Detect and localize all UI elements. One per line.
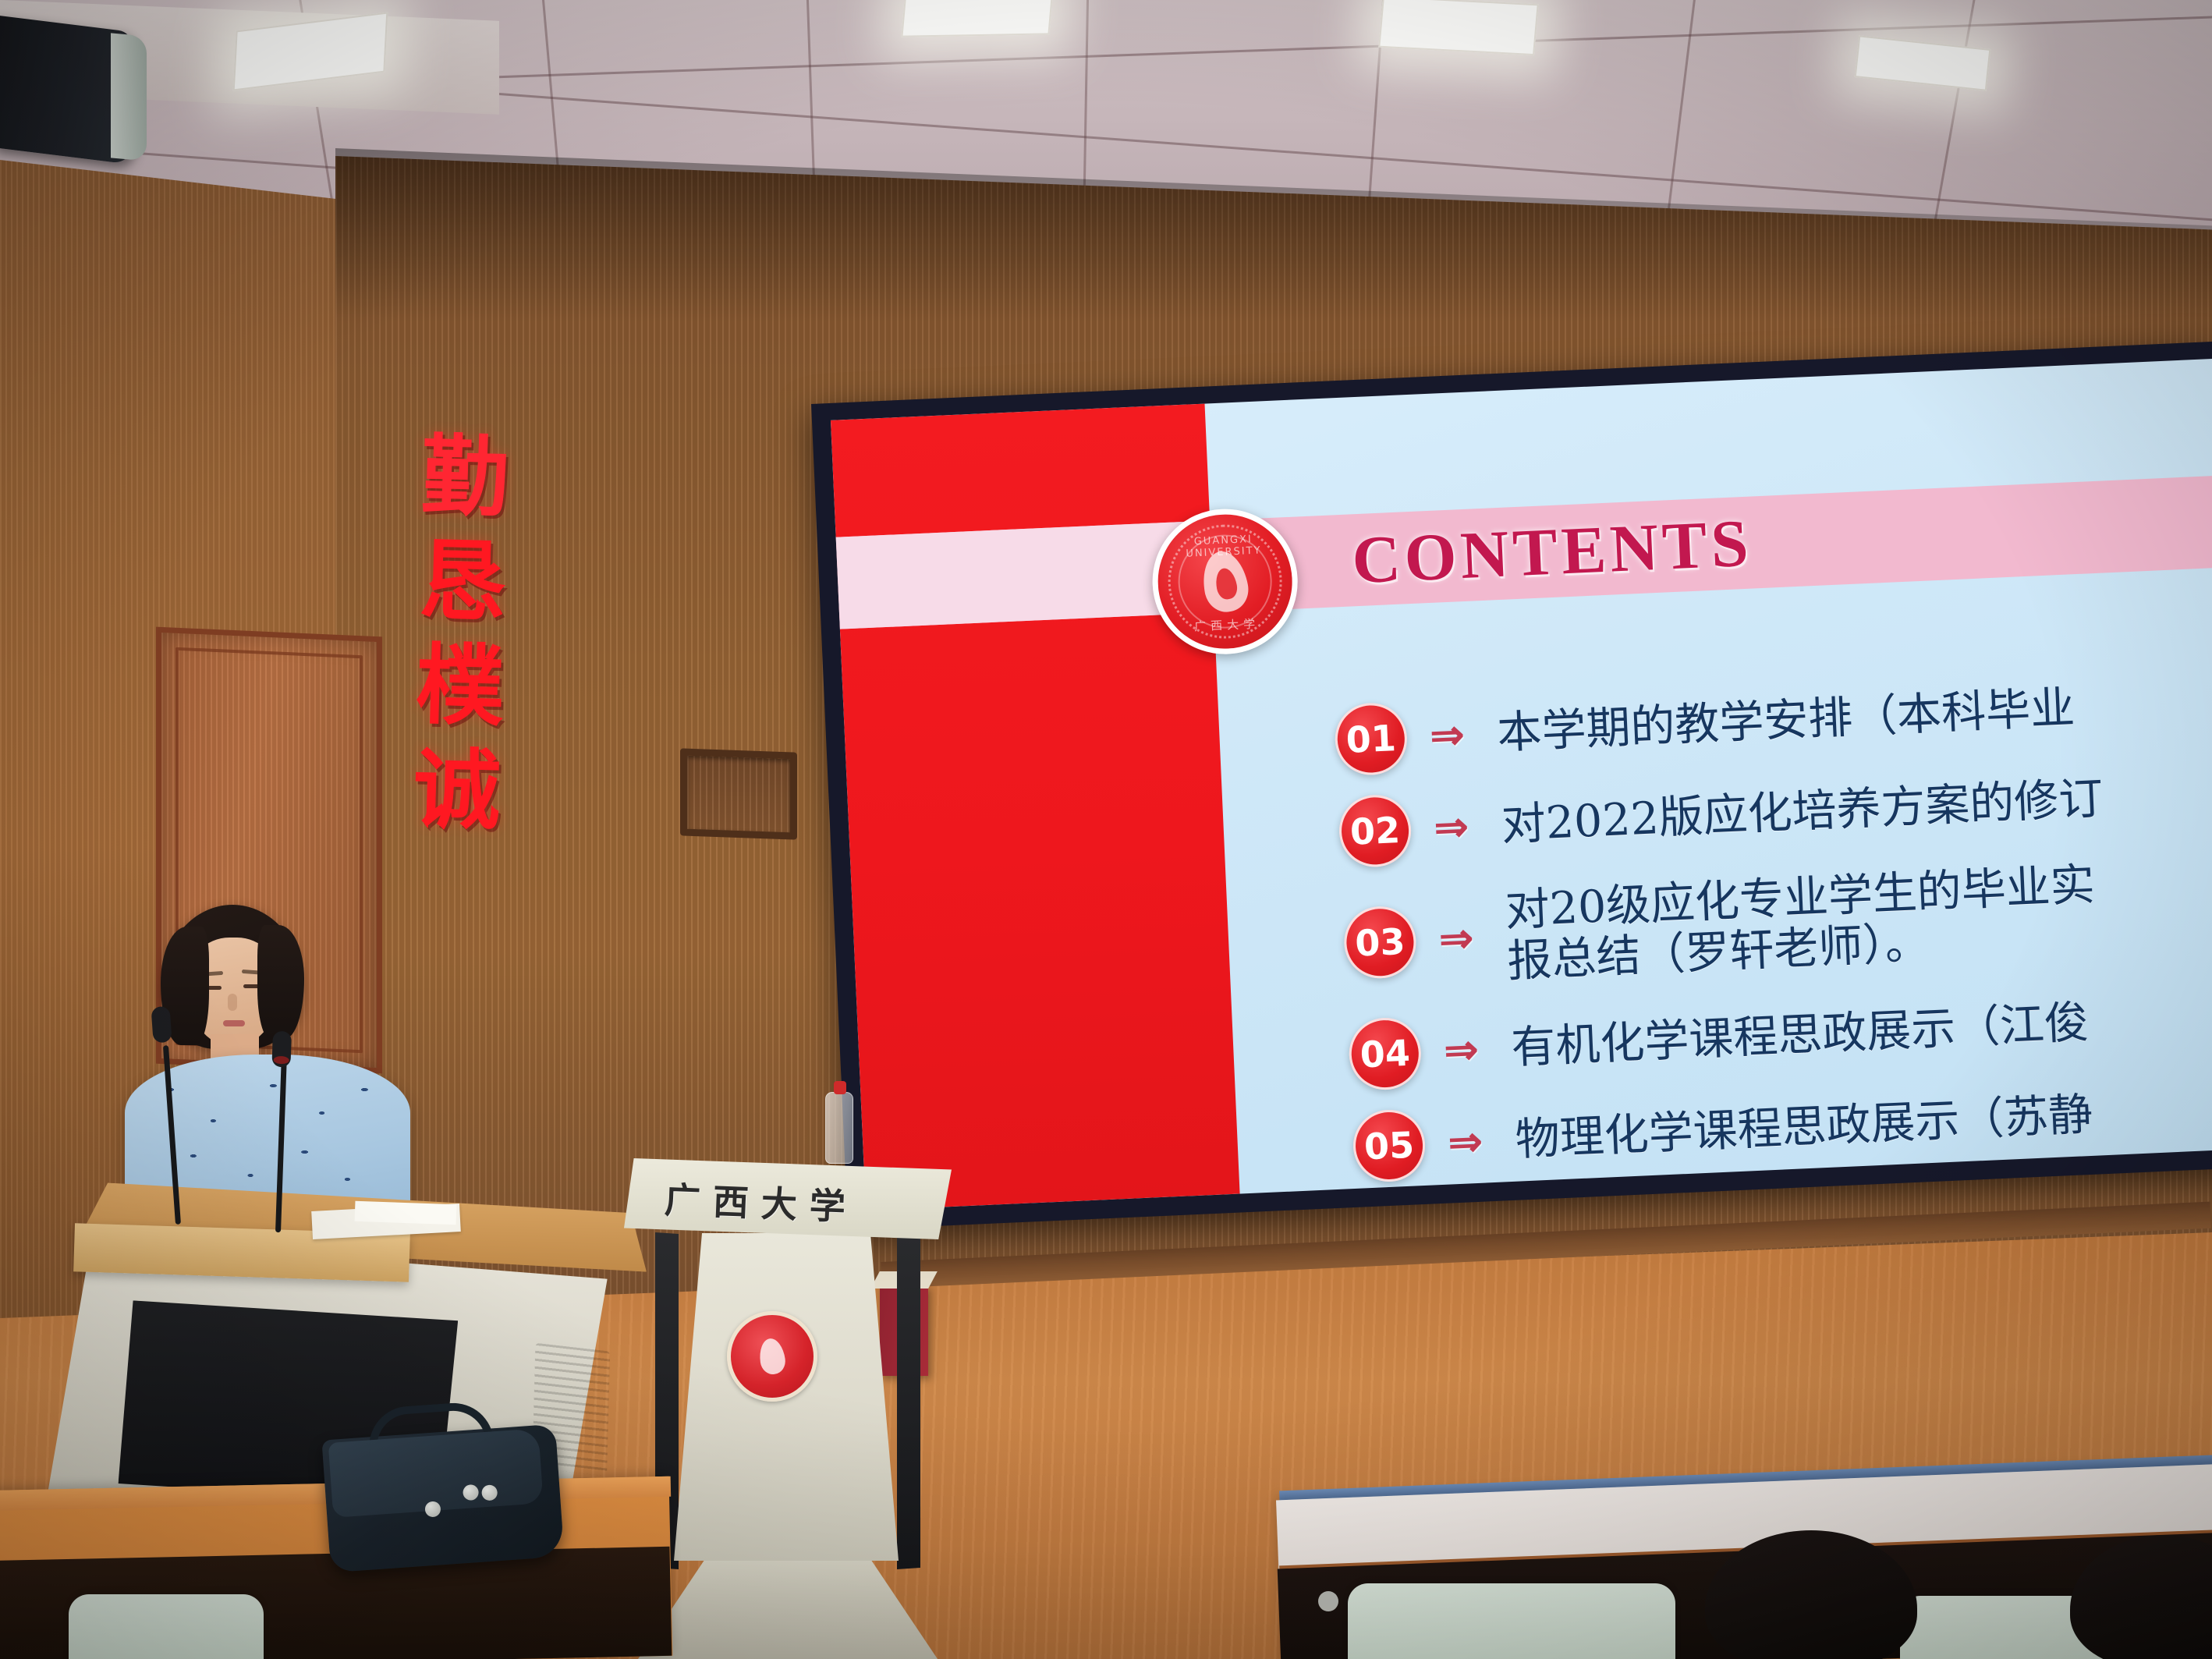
wall-speaker-face xyxy=(111,33,147,161)
arrow-right-icon: ⇒ xyxy=(1448,1121,1493,1163)
wall-calligraphy: 勤 恳 樸 诚 xyxy=(397,432,524,836)
arrow-right-icon: ⇒ xyxy=(1434,806,1479,849)
toc-number-badge: 02 xyxy=(1338,793,1413,868)
lecture-hall-scene: 勤 恳 樸 诚 GUANGXI UNIVERSITY 广西大学 CONTENTS xyxy=(0,0,2212,1659)
presenter-hair-right xyxy=(257,925,304,1039)
toc-number-badge: 05 xyxy=(1352,1108,1427,1183)
lectern-flame-icon xyxy=(757,1337,787,1376)
toc-item-text: 物理化学课程思政展示（苏静 xyxy=(1514,1089,2093,1165)
lectern-emblem-icon xyxy=(727,1311,817,1402)
toc-item-text: 对2022版应化培养方案的修订 xyxy=(1500,773,2104,850)
toc-number-badge: 01 xyxy=(1334,701,1409,776)
wall-speaker xyxy=(0,15,133,165)
black-handbag xyxy=(321,1424,564,1573)
arrow-right-icon: ⇒ xyxy=(1430,714,1475,757)
podium-papers-2 xyxy=(355,1201,457,1225)
projection-screen: GUANGXI UNIVERSITY 广西大学 CONTENTS 01 ⇒ 本学… xyxy=(831,359,2212,1211)
slide-title: CONTENTS xyxy=(1351,509,1753,594)
projection-screen-frame: GUANGXI UNIVERSITY 广西大学 CONTENTS 01 ⇒ 本学… xyxy=(811,342,2212,1230)
audience-chair-2 xyxy=(1348,1583,1675,1659)
calligraphy-char-4: 诚 xyxy=(412,746,502,835)
wall-access-panel xyxy=(680,748,797,839)
ceiling-light-2 xyxy=(901,0,1053,37)
lectern-base xyxy=(638,1561,938,1659)
toc-item-text: 对20级应化专业学生的毕业实 报总结（罗轩老师）。 xyxy=(1504,860,2098,987)
water-bottle xyxy=(825,1092,853,1164)
calligraphy-char-2: 恳 xyxy=(417,537,507,627)
arrow-right-icon: ⇒ xyxy=(1438,917,1484,959)
slide-contents-list: 01 ⇒ 本学期的教学安排（本科毕业 02 ⇒ 对2022版应化培养方案的修订 … xyxy=(1333,655,2212,1211)
toc-item-text: 有机化学课程思政展示（江俊 xyxy=(1510,997,2090,1073)
ceiling-light-3 xyxy=(1378,0,1538,55)
desk-knob xyxy=(1318,1591,1338,1611)
lectern-university-name: 广西大学 xyxy=(664,1172,859,1230)
calligraphy-char-1: 勤 xyxy=(420,433,510,523)
toc-number-badge: 03 xyxy=(1342,905,1417,980)
toc-item-text: 本学期的教学安排（本科毕业 xyxy=(1496,682,2076,759)
handbag-stud-1 xyxy=(424,1501,441,1517)
audience-chair-1 xyxy=(69,1594,264,1659)
calligraphy-char-3: 樸 xyxy=(415,642,505,732)
gxu-lectern: 广西大学 xyxy=(624,1158,952,1659)
lectern-side-right xyxy=(897,1232,920,1569)
arrow-right-icon: ⇒ xyxy=(1444,1029,1489,1071)
toc-number-badge: 04 xyxy=(1348,1016,1423,1091)
